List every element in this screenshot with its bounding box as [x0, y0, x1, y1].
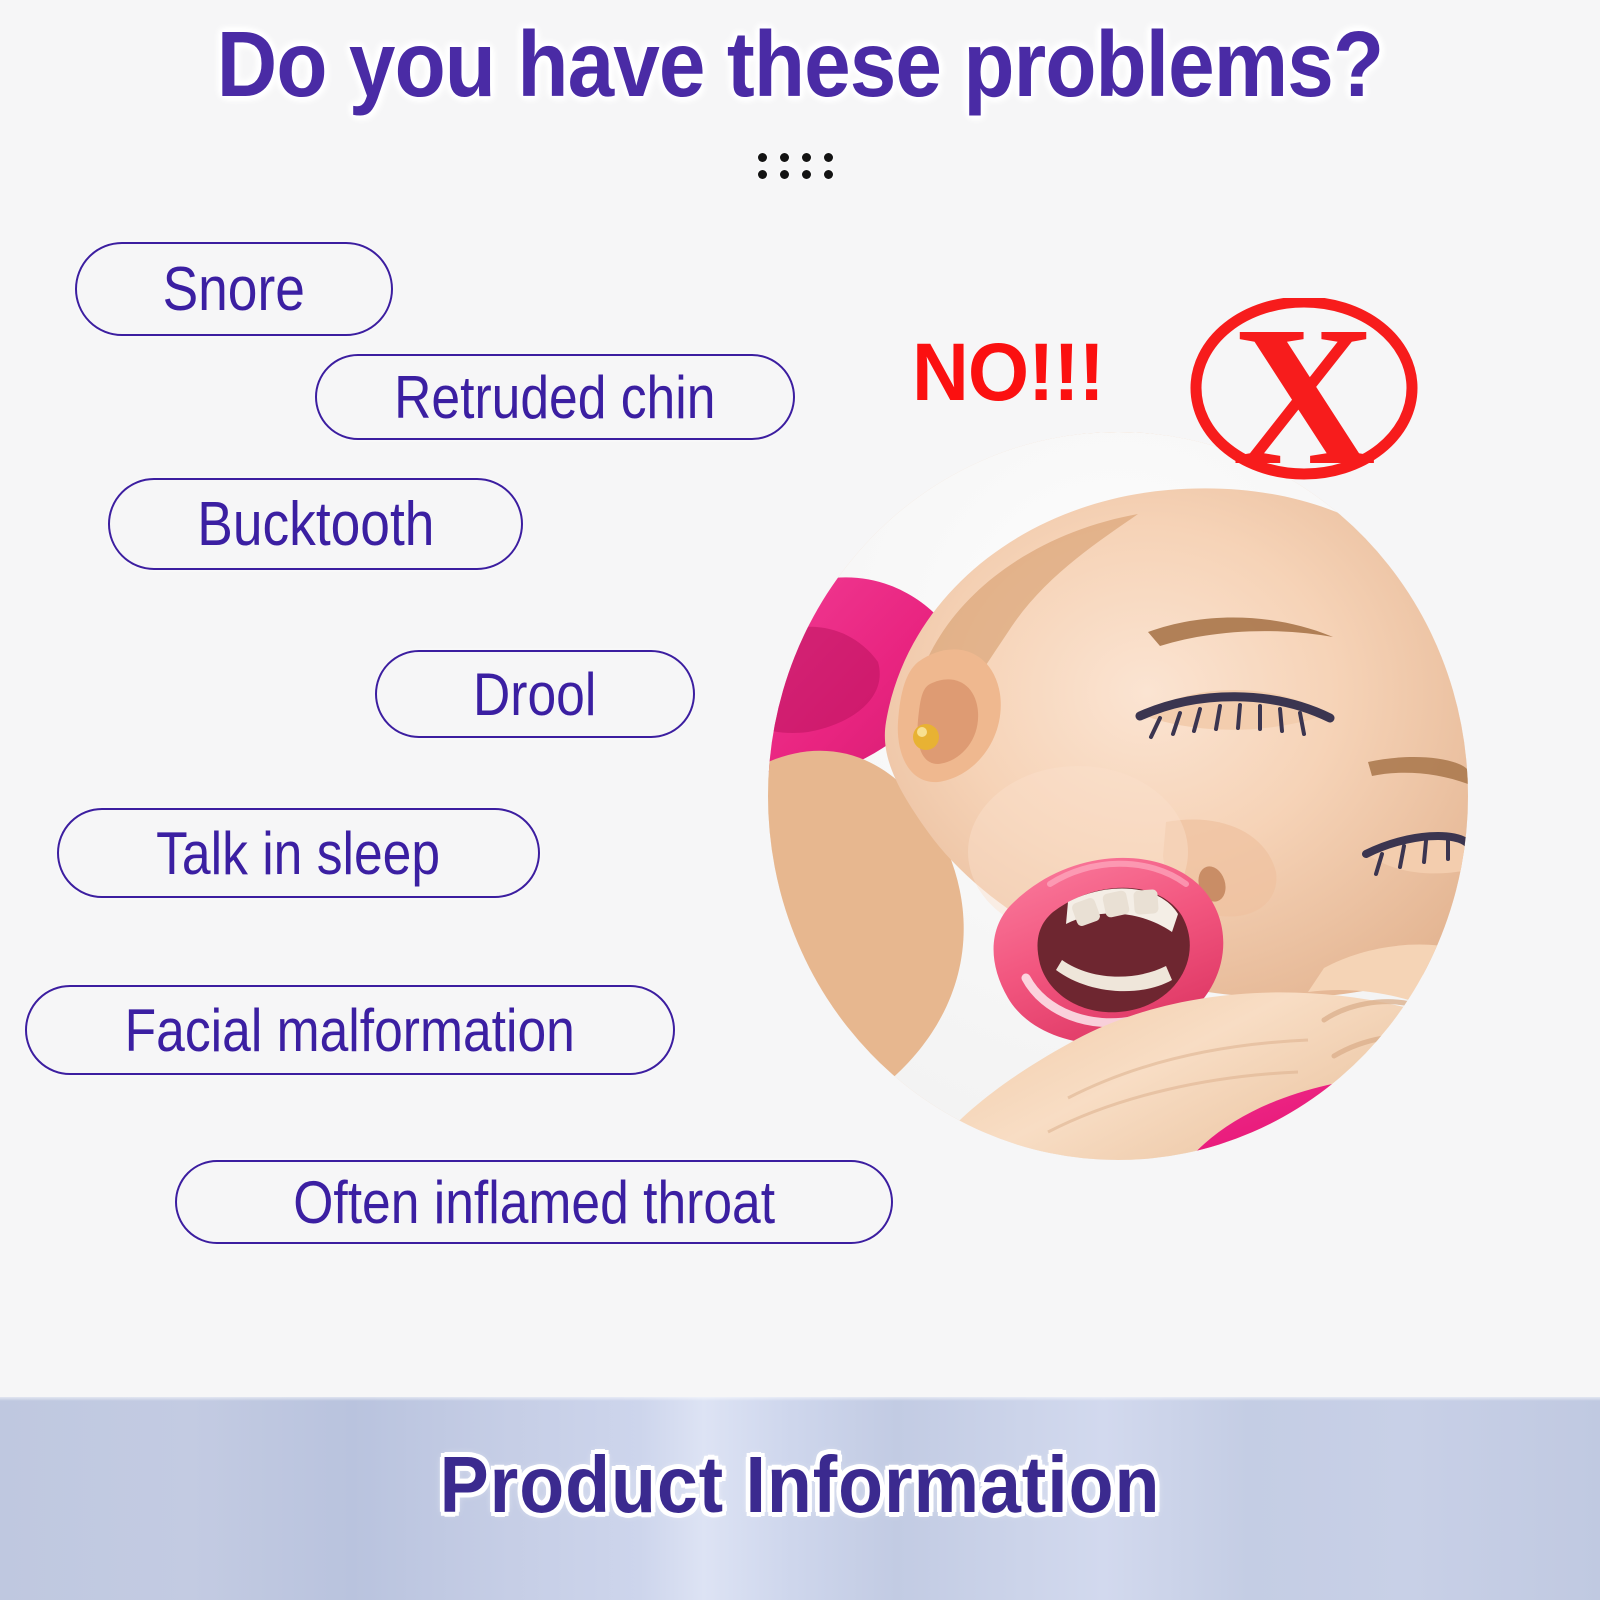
infographic-page: Do you have these problems? Snore Retrud… [0, 0, 1600, 1600]
symptom-pill-facial-malformation: Facial malformation [25, 985, 675, 1075]
symptom-pill-drool: Drool [375, 650, 695, 738]
dot [824, 153, 833, 162]
sleeping-child-photo [768, 432, 1468, 1160]
dot [758, 170, 767, 179]
problem-section: Do you have these problems? Snore Retrud… [0, 0, 1600, 1397]
symptom-pill-talk-in-sleep: Talk in sleep [57, 808, 540, 898]
symptom-pill-retruded-chin: Retruded chin [315, 354, 795, 440]
symptom-pill-label: Bucktooth [197, 489, 434, 560]
no-alert-text: NO!!! [912, 332, 1104, 414]
symptom-pill-label: Retruded chin [394, 363, 715, 432]
symptom-pill-label: Facial malformation [125, 996, 575, 1065]
symptom-pill-snore: Snore [75, 242, 393, 336]
symptom-pill-bucktooth: Bucktooth [108, 478, 523, 570]
dot [780, 153, 789, 162]
symptom-pill-label: Talk in sleep [157, 819, 441, 888]
symptom-pill-label: Drool [473, 660, 596, 729]
dot [758, 153, 767, 162]
page-title: Do you have these problems? [80, 18, 1520, 111]
dot [824, 170, 833, 179]
dot [780, 170, 789, 179]
red-x-circle-icon: X [1186, 298, 1422, 483]
dot-grid-ornament [751, 149, 841, 183]
dot [802, 170, 811, 179]
symptom-pill-label: Often inflamed throat [293, 1168, 775, 1237]
product-information-banner: Product Information [0, 1397, 1600, 1600]
svg-text:X: X [1232, 298, 1376, 483]
symptom-pill-often-inflamed-throat: Often inflamed throat [175, 1160, 893, 1244]
dot [802, 153, 811, 162]
symptom-pill-label: Snore [163, 254, 305, 325]
banner-title: Product Information [64, 1445, 1536, 1525]
